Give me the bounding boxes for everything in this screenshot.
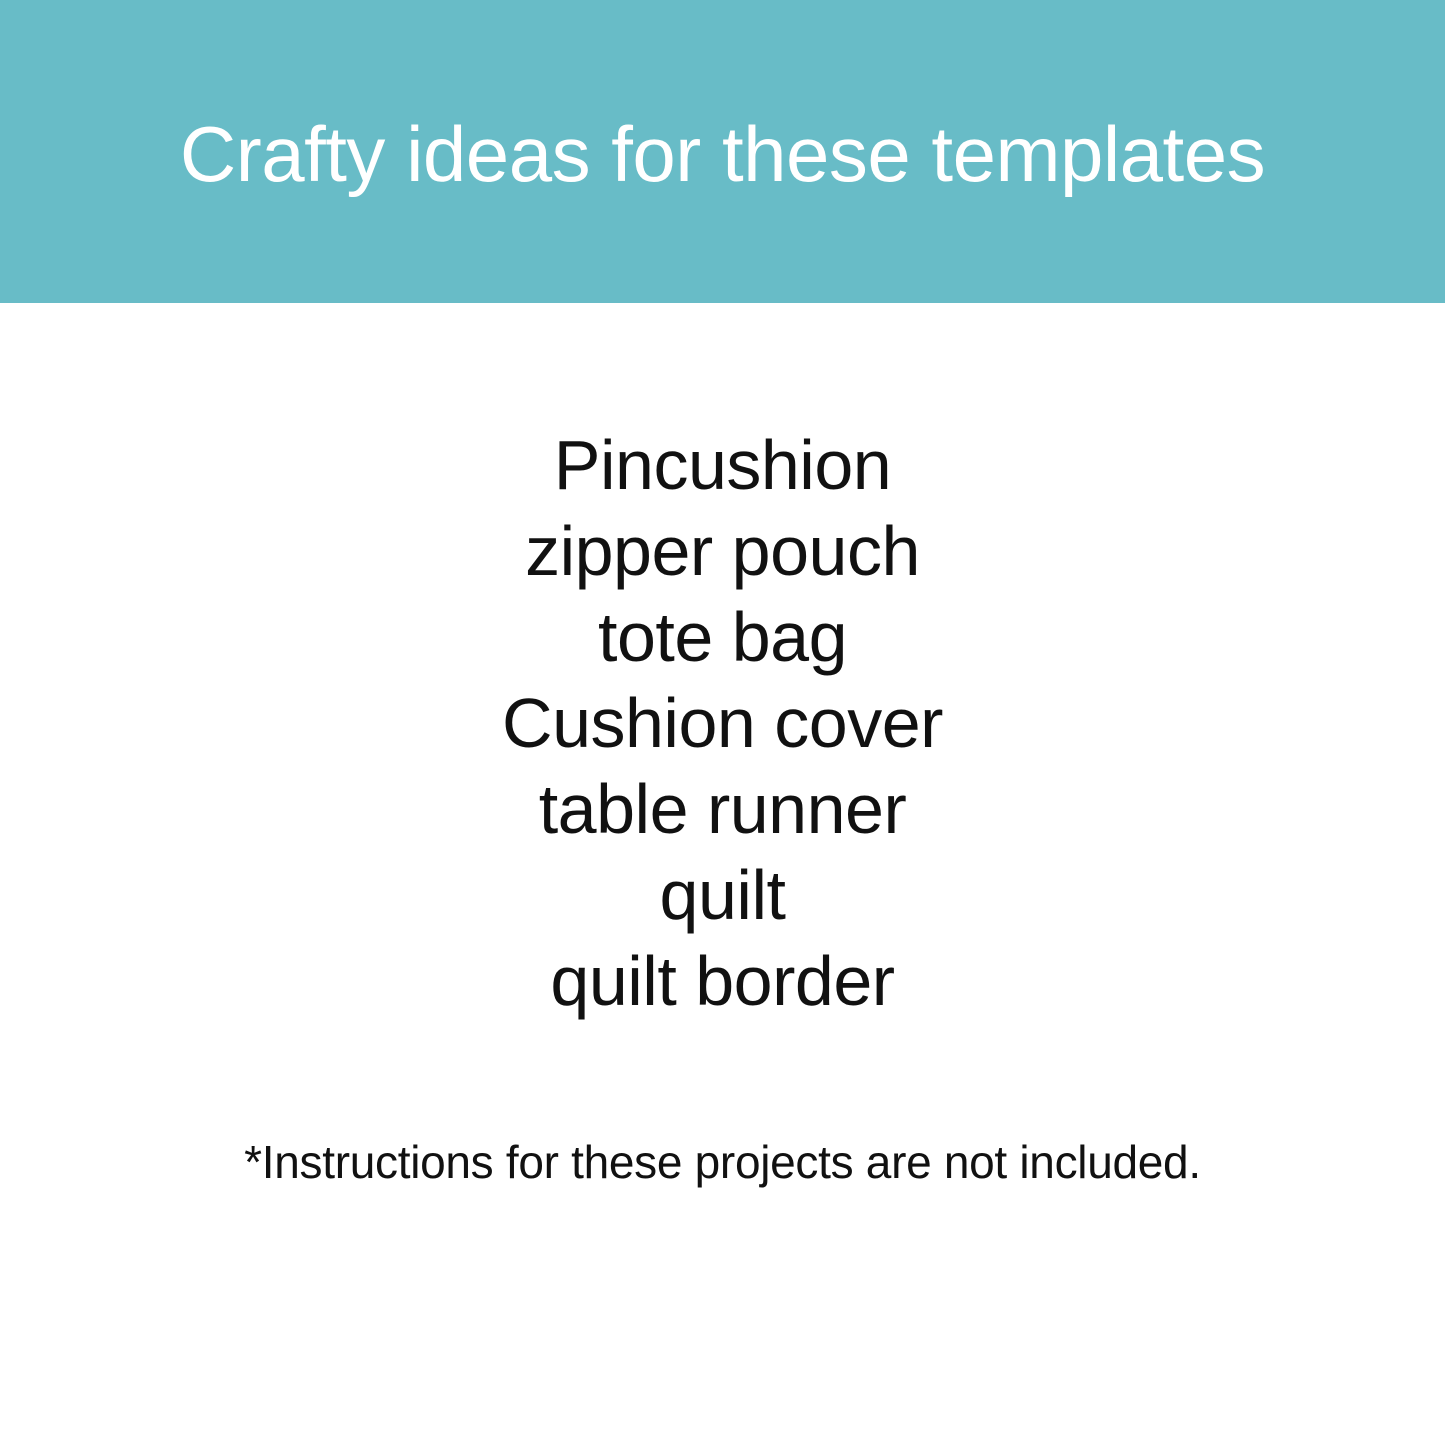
list-item: quilt — [660, 852, 786, 938]
list-item: Cushion cover — [502, 680, 943, 766]
page-title: Crafty ideas for these templates — [180, 114, 1265, 196]
list-item: tote bag — [598, 594, 847, 680]
crafty-ideas-page: Crafty ideas for these templates Pincush… — [0, 0, 1445, 1445]
list-item: table runner — [539, 766, 907, 852]
list-item: Pincushion — [554, 422, 891, 508]
header-banner: Crafty ideas for these templates — [0, 0, 1445, 303]
content-area: Pincushion zipper pouch tote bag Cushion… — [0, 303, 1445, 1445]
list-item: zipper pouch — [525, 508, 920, 594]
footnote-disclaimer: *Instructions for these projects are not… — [0, 1135, 1445, 1190]
ideas-list: Pincushion zipper pouch tote bag Cushion… — [0, 422, 1445, 1024]
list-item: quilt border — [550, 938, 894, 1024]
